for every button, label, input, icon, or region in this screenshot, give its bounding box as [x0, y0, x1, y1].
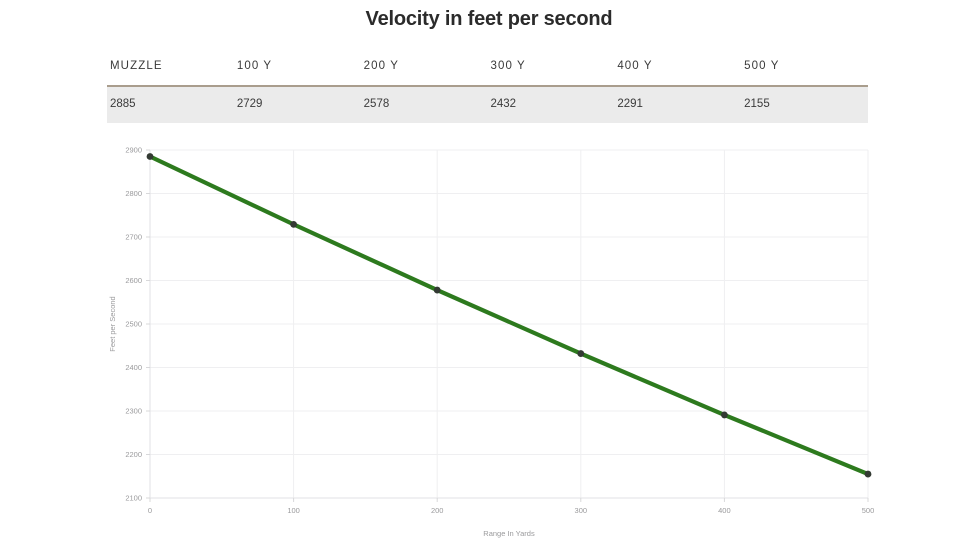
chart-svg: 210022002300240025002600270028002900 010… [0, 128, 978, 538]
velocity-line-chart: 210022002300240025002600270028002900 010… [0, 128, 978, 538]
column-header-300y: 300 Y [487, 60, 614, 86]
cell-velocity-muzzle: 2885 [107, 86, 234, 123]
velocity-table: MUZZLE 100 Y 200 Y 300 Y 400 Y 500 Y 288… [107, 60, 868, 123]
data-point-marker[interactable] [290, 221, 297, 228]
column-header-500y: 500 Y [741, 60, 868, 86]
data-point-marker[interactable] [434, 287, 441, 294]
column-header-muzzle: MUZZLE [107, 60, 234, 86]
y-tick-label: 2600 [125, 276, 142, 285]
cell-velocity-400y: 2291 [614, 86, 741, 123]
data-point-marker[interactable] [147, 153, 154, 160]
data-point-marker[interactable] [721, 412, 728, 419]
x-tick-label: 100 [287, 506, 300, 515]
y-tick-label: 2500 [125, 320, 142, 329]
series-line [150, 157, 868, 475]
y-tick-label: 2900 [125, 146, 142, 155]
column-header-400y: 400 Y [614, 60, 741, 86]
y-tick-label: 2300 [125, 407, 142, 416]
cell-velocity-100y: 2729 [234, 86, 361, 123]
y-tick-label: 2700 [125, 233, 142, 242]
x-tick-label: 300 [575, 506, 588, 515]
page-title: Velocity in feet per second [0, 8, 978, 31]
x-axis-ticks: 0100200300400500 [148, 498, 874, 515]
velocity-table-wrap: MUZZLE 100 Y 200 Y 300 Y 400 Y 500 Y 288… [107, 60, 868, 123]
cell-velocity-500y: 2155 [741, 86, 868, 123]
cell-velocity-200y: 2578 [361, 86, 488, 123]
y-axis-title: Feet per Second [108, 296, 117, 351]
x-axis-title: Range In Yards [483, 529, 535, 538]
y-tick-label: 2800 [125, 189, 142, 198]
y-axis-ticks: 210022002300240025002600270028002900 [125, 146, 150, 503]
x-tick-label: 0 [148, 506, 152, 515]
x-tick-label: 200 [431, 506, 444, 515]
data-series [150, 157, 868, 475]
y-tick-label: 2200 [125, 450, 142, 459]
table-row: 2885 2729 2578 2432 2291 2155 [107, 86, 868, 123]
data-point-marker[interactable] [865, 471, 872, 478]
y-tick-label: 2400 [125, 363, 142, 372]
y-tick-label: 2100 [125, 494, 142, 503]
data-point-marker[interactable] [577, 350, 584, 357]
table-header-row: MUZZLE 100 Y 200 Y 300 Y 400 Y 500 Y [107, 60, 868, 86]
x-tick-label: 500 [862, 506, 875, 515]
column-header-100y: 100 Y [234, 60, 361, 86]
cell-velocity-300y: 2432 [487, 86, 614, 123]
x-tick-label: 400 [718, 506, 731, 515]
column-header-200y: 200 Y [361, 60, 488, 86]
